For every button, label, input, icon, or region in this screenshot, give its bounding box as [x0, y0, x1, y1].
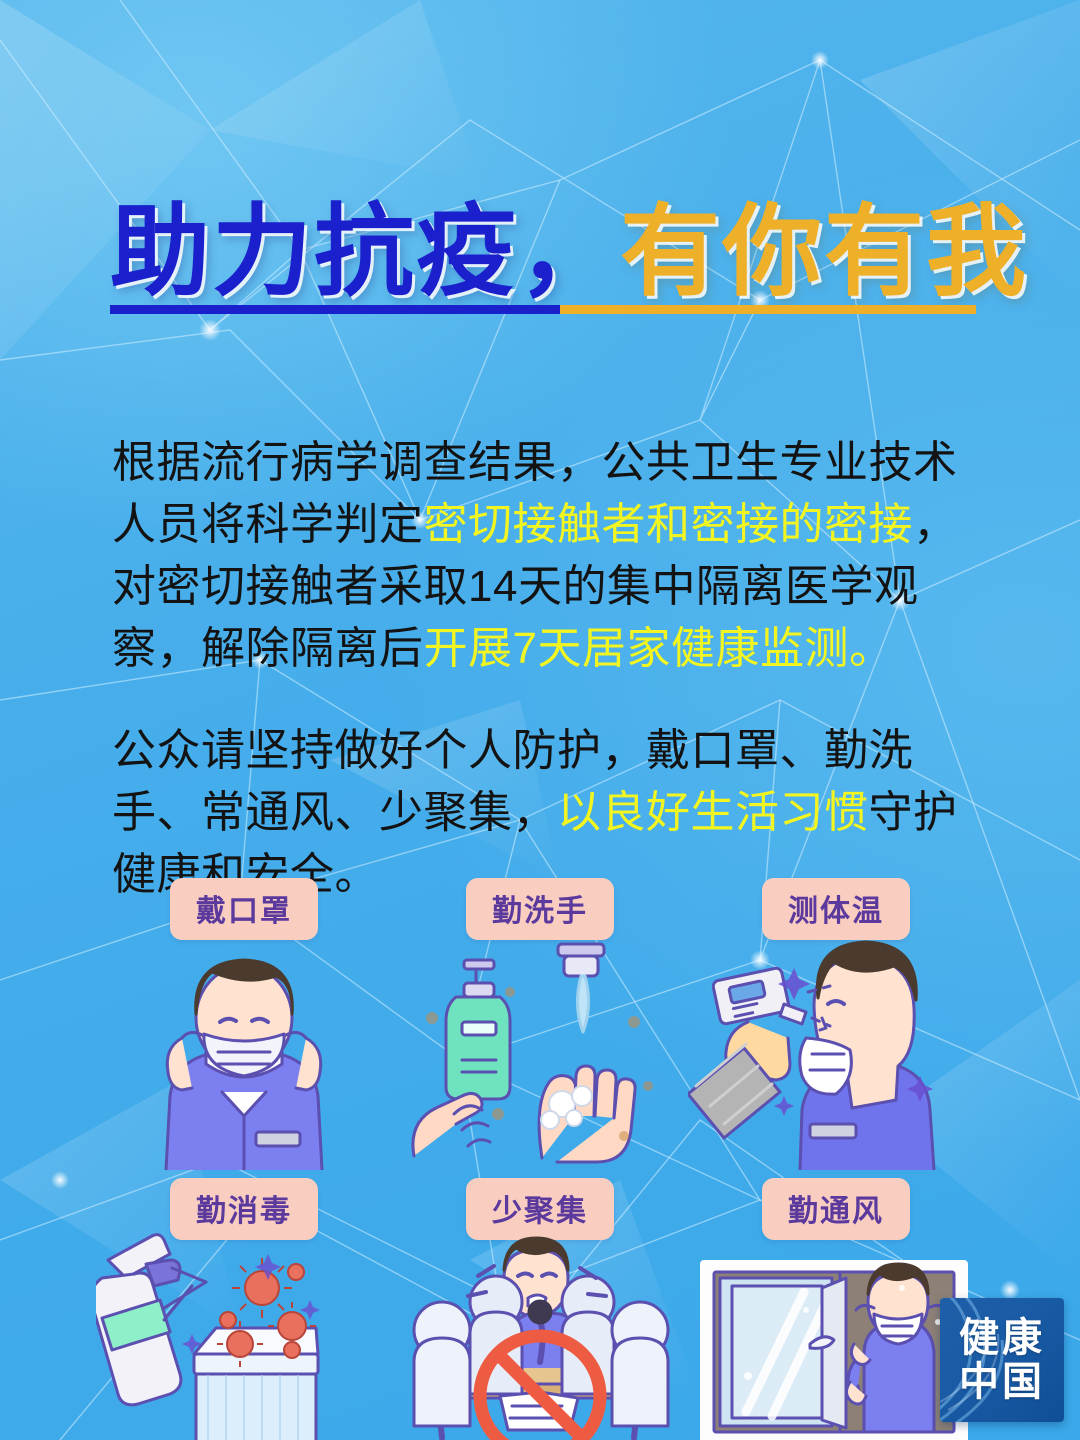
body-copy: 根据流行病学调查结果，公共卫生专业技术人员将科学判定密切接触者和密接的密接，对密… — [112, 432, 992, 946]
poster-title: 助力抗疫，有你有我 — [110, 198, 990, 306]
paragraph-1: 根据流行病学调查结果，公共卫生专业技术人员将科学判定密切接触者和密接的密接，对密… — [112, 432, 992, 680]
brand-logo-healthy-china: 健康 中国 — [940, 1298, 1064, 1422]
tip-cell-wash-hands: 勤洗手 — [392, 870, 688, 1170]
p1-highlight-2: 开展7天居家健康监测。 — [424, 624, 894, 673]
title-underline-blue — [110, 305, 560, 314]
poster-root: 助力抗疫，有你有我 根据流行病学调查结果，公共卫生专业技术人员将科学判定密切接触… — [0, 0, 1080, 1440]
title-part-blue: 助力抗疫， — [110, 196, 620, 308]
logo-line-2: 中国 — [959, 1360, 1045, 1404]
prevention-tips-grid: 戴口罩 — [96, 870, 984, 1440]
person-wearing-mask-icon — [96, 926, 392, 1170]
tip-cell-check-temperature: 测体温 — [688, 870, 984, 1170]
tips-row-2: 勤消毒 — [96, 1170, 984, 1440]
p2-highlight-1: 以良好生活习惯 — [557, 788, 869, 837]
spray-disinfect-icon — [96, 1226, 392, 1440]
title-underline-gold — [560, 305, 976, 314]
hand-washing-icon — [392, 926, 688, 1170]
logo-line-1: 健康 — [959, 1316, 1045, 1360]
tip-cell-avoid-gathering: 少聚集 — [392, 1170, 688, 1440]
title-part-gold: 有你有我 — [620, 196, 1028, 308]
tip-cell-wear-mask: 戴口罩 — [96, 870, 392, 1170]
thermometer-check-icon — [688, 926, 984, 1170]
no-gathering-icon — [392, 1226, 688, 1440]
p1-highlight-1: 密切接触者和密接的密接 — [424, 500, 914, 549]
title-underline — [110, 305, 976, 314]
tips-row-1: 戴口罩 — [96, 870, 984, 1170]
logo-text: 健康 中国 — [940, 1298, 1064, 1422]
tip-cell-disinfect: 勤消毒 — [96, 1170, 392, 1440]
